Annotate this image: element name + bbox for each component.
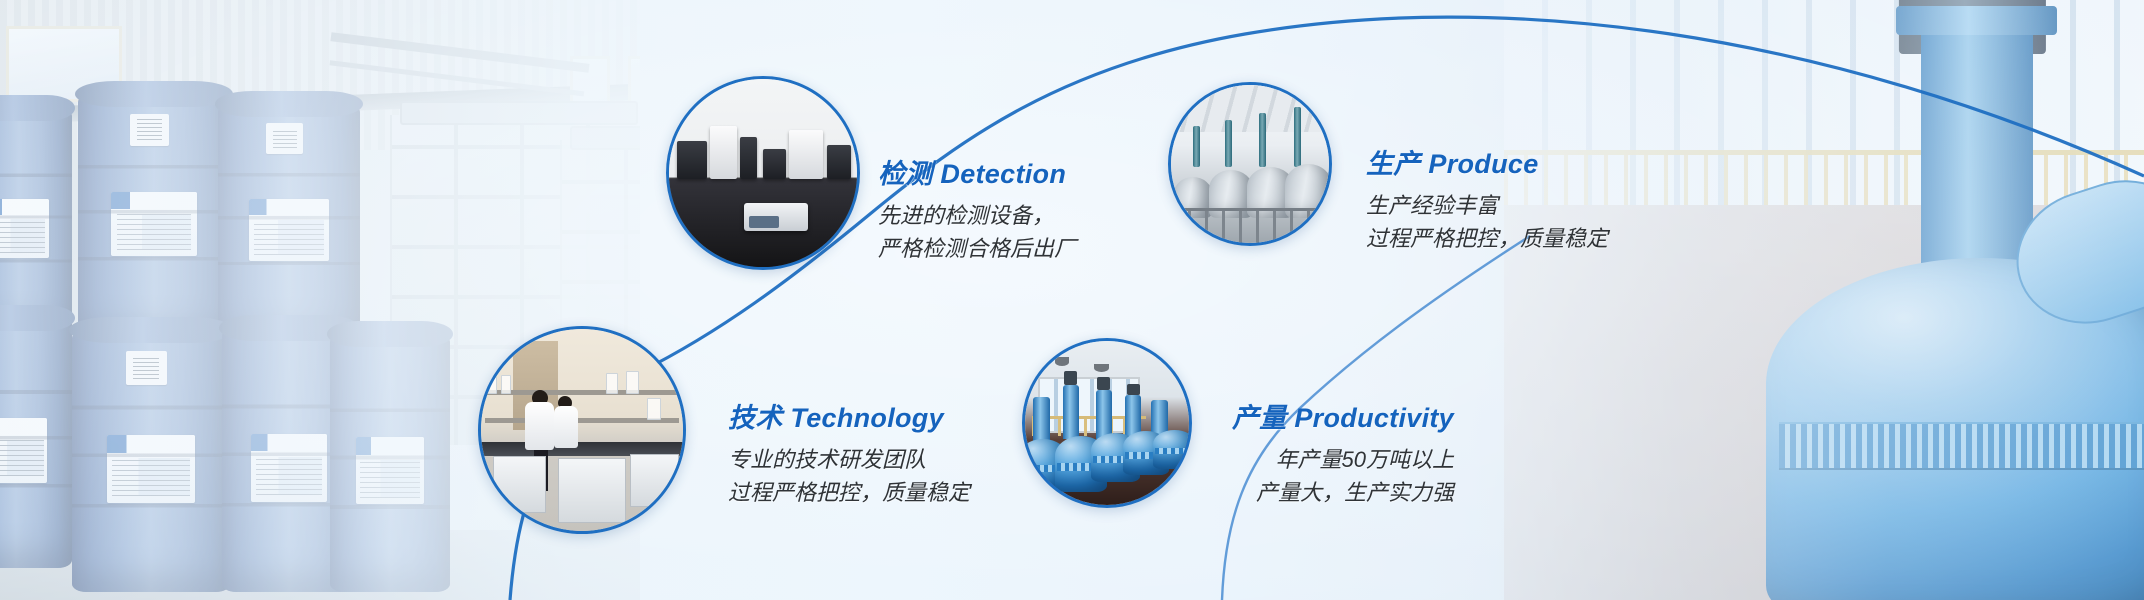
feature-text-productivity: 产量 Productivity 年产量50万吨以上 产量大，生产实力强 <box>1228 396 1454 509</box>
feature-text-produce: 生产 Produce 生产经验丰富 过程严格把控，质量稳定 <box>1366 142 1608 255</box>
feature-photo-productivity[interactable] <box>1022 338 1192 508</box>
technician-lab-coat <box>525 402 553 450</box>
glassware <box>606 373 618 393</box>
feature-heading: 产量 Productivity <box>1228 396 1454 435</box>
feature-line: 严格检测合格后出厂 <box>878 233 1076 266</box>
ceiling-lamp <box>1055 357 1070 365</box>
reactor-column <box>1096 390 1112 439</box>
glassware <box>487 377 497 393</box>
glassware <box>647 398 661 420</box>
feature-line: 先进的检测设备， <box>878 200 1076 233</box>
instrument <box>789 130 823 179</box>
feature-photo-technology[interactable] <box>478 326 686 534</box>
connecting-curve <box>0 0 2144 600</box>
feature-heading: 技术 Technology <box>728 396 970 435</box>
feature-line: 过程严格把控，质量稳定 <box>1366 223 1608 256</box>
agitator-stem <box>1294 107 1301 167</box>
walkway-railing <box>1171 208 1329 243</box>
feature-line: 年产量50万吨以上 <box>1228 444 1454 477</box>
feature-text-technology: 技术 Technology 专业的技术研发团队 过程严格把控，质量稳定 <box>728 396 970 509</box>
instrument <box>827 145 851 179</box>
produce-photo <box>1171 85 1329 243</box>
instrument <box>763 149 786 179</box>
instrument <box>710 126 736 179</box>
reactor-column <box>1033 397 1049 443</box>
glassware <box>501 375 511 393</box>
detection-photo <box>669 79 857 267</box>
agitator-stem <box>1193 126 1200 167</box>
lab-cabinet <box>630 454 678 507</box>
feature-photo-detection[interactable] <box>666 76 860 270</box>
feature-photo-produce[interactable] <box>1168 82 1332 246</box>
technician-lab-coat <box>554 406 578 448</box>
productivity-photo <box>1025 341 1189 505</box>
bench-scale <box>744 203 808 231</box>
feature-heading: 检测 Detection <box>878 152 1076 191</box>
feature-heading: 生产 Produce <box>1366 142 1608 181</box>
lab-cabinet <box>493 456 546 513</box>
feature-text-detection: 检测 Detection 先进的检测设备， 严格检测合格后出厂 <box>878 152 1076 265</box>
lab-shelf <box>485 390 679 395</box>
reactor-motor <box>1097 377 1110 390</box>
ceiling-lamp <box>1094 364 1109 372</box>
hall-roof <box>1168 85 1332 132</box>
instrument <box>740 137 757 178</box>
company-strength-banner: 5 6 <box>0 0 2144 600</box>
reactor-column <box>1063 385 1079 439</box>
technology-photo <box>481 329 683 531</box>
feature-line: 产量大，生产实力强 <box>1228 477 1454 510</box>
agitator-stem <box>1225 120 1232 167</box>
agitator-stem <box>1259 113 1266 167</box>
feature-line: 生产经验丰富 <box>1366 190 1608 223</box>
feature-line: 专业的技术研发团队 <box>728 444 970 477</box>
lab-cabinet <box>558 458 627 523</box>
reactor-motor <box>1064 371 1077 386</box>
feature-line: 过程严格把控，质量稳定 <box>728 477 970 510</box>
microscope-icon <box>677 141 707 179</box>
glassware <box>626 371 638 393</box>
reactor-motor <box>1127 384 1140 395</box>
blue-reactor <box>1153 430 1192 469</box>
